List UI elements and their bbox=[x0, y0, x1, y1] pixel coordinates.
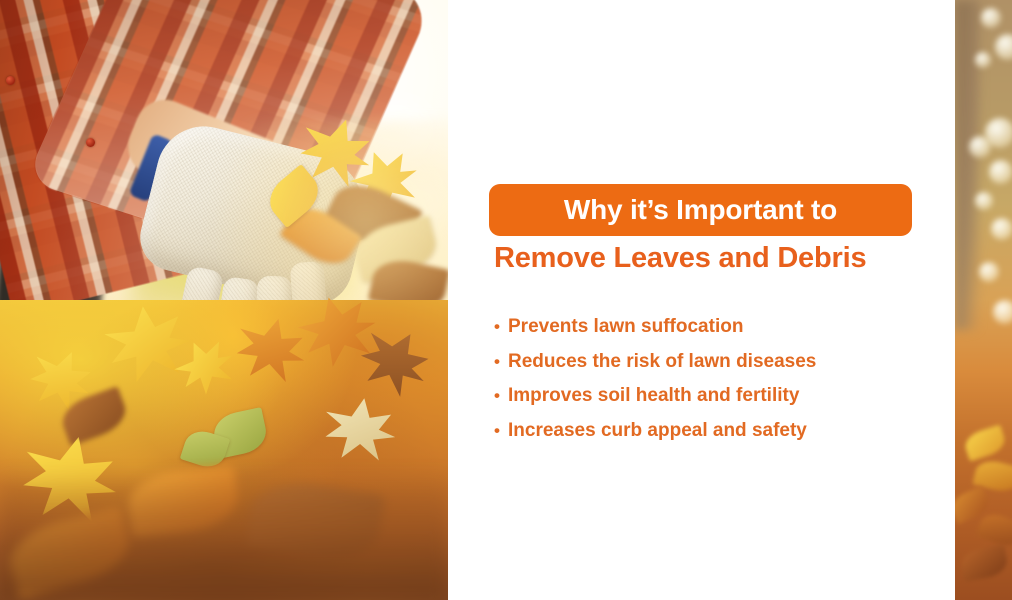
blurred-tree-trunk bbox=[955, 0, 979, 330]
bokeh-highlight-icon bbox=[989, 160, 1012, 184]
list-item-label: Improves soil health and fertility bbox=[508, 379, 799, 414]
list-item: • Increases curb appeal and safety bbox=[494, 414, 924, 449]
bullet-dot-icon: • bbox=[494, 310, 508, 345]
list-item: • Prevents lawn suffocation bbox=[494, 310, 924, 345]
bokeh-highlight-icon bbox=[969, 136, 991, 158]
headline-line-2: Remove Leaves and Debris bbox=[494, 242, 914, 275]
list-item-label: Prevents lawn suffocation bbox=[508, 310, 743, 345]
text-content-column: Why it’s Important to Remove Leaves and … bbox=[448, 0, 955, 600]
shirt-button-icon bbox=[6, 76, 15, 85]
benefits-list: • Prevents lawn suffocation • Reduces th… bbox=[494, 310, 924, 448]
slide-canvas: Why it’s Important to Remove Leaves and … bbox=[0, 0, 1012, 600]
bullet-dot-icon: • bbox=[494, 345, 508, 380]
bullet-dot-icon: • bbox=[494, 414, 508, 449]
right-photo-strip bbox=[955, 0, 1012, 600]
bokeh-highlight-icon bbox=[979, 262, 999, 282]
headline-badge: Why it’s Important to bbox=[489, 184, 912, 236]
list-item-label: Reduces the risk of lawn diseases bbox=[508, 345, 816, 380]
bullet-dot-icon: • bbox=[494, 379, 508, 414]
shirt-button-icon bbox=[86, 138, 95, 147]
bokeh-highlight-icon bbox=[991, 218, 1012, 240]
left-photo-panel bbox=[0, 0, 448, 600]
list-item-label: Increases curb appeal and safety bbox=[508, 414, 807, 449]
list-item: • Reduces the risk of lawn diseases bbox=[494, 345, 924, 380]
foreground-blur bbox=[0, 470, 448, 600]
headline-line-1: Why it’s Important to bbox=[564, 196, 837, 224]
bokeh-highlight-icon bbox=[975, 192, 993, 210]
list-item: • Improves soil health and fertility bbox=[494, 379, 924, 414]
bokeh-highlight-icon bbox=[975, 52, 991, 68]
bokeh-highlight-icon bbox=[993, 300, 1012, 324]
bokeh-highlight-icon bbox=[981, 8, 1001, 28]
